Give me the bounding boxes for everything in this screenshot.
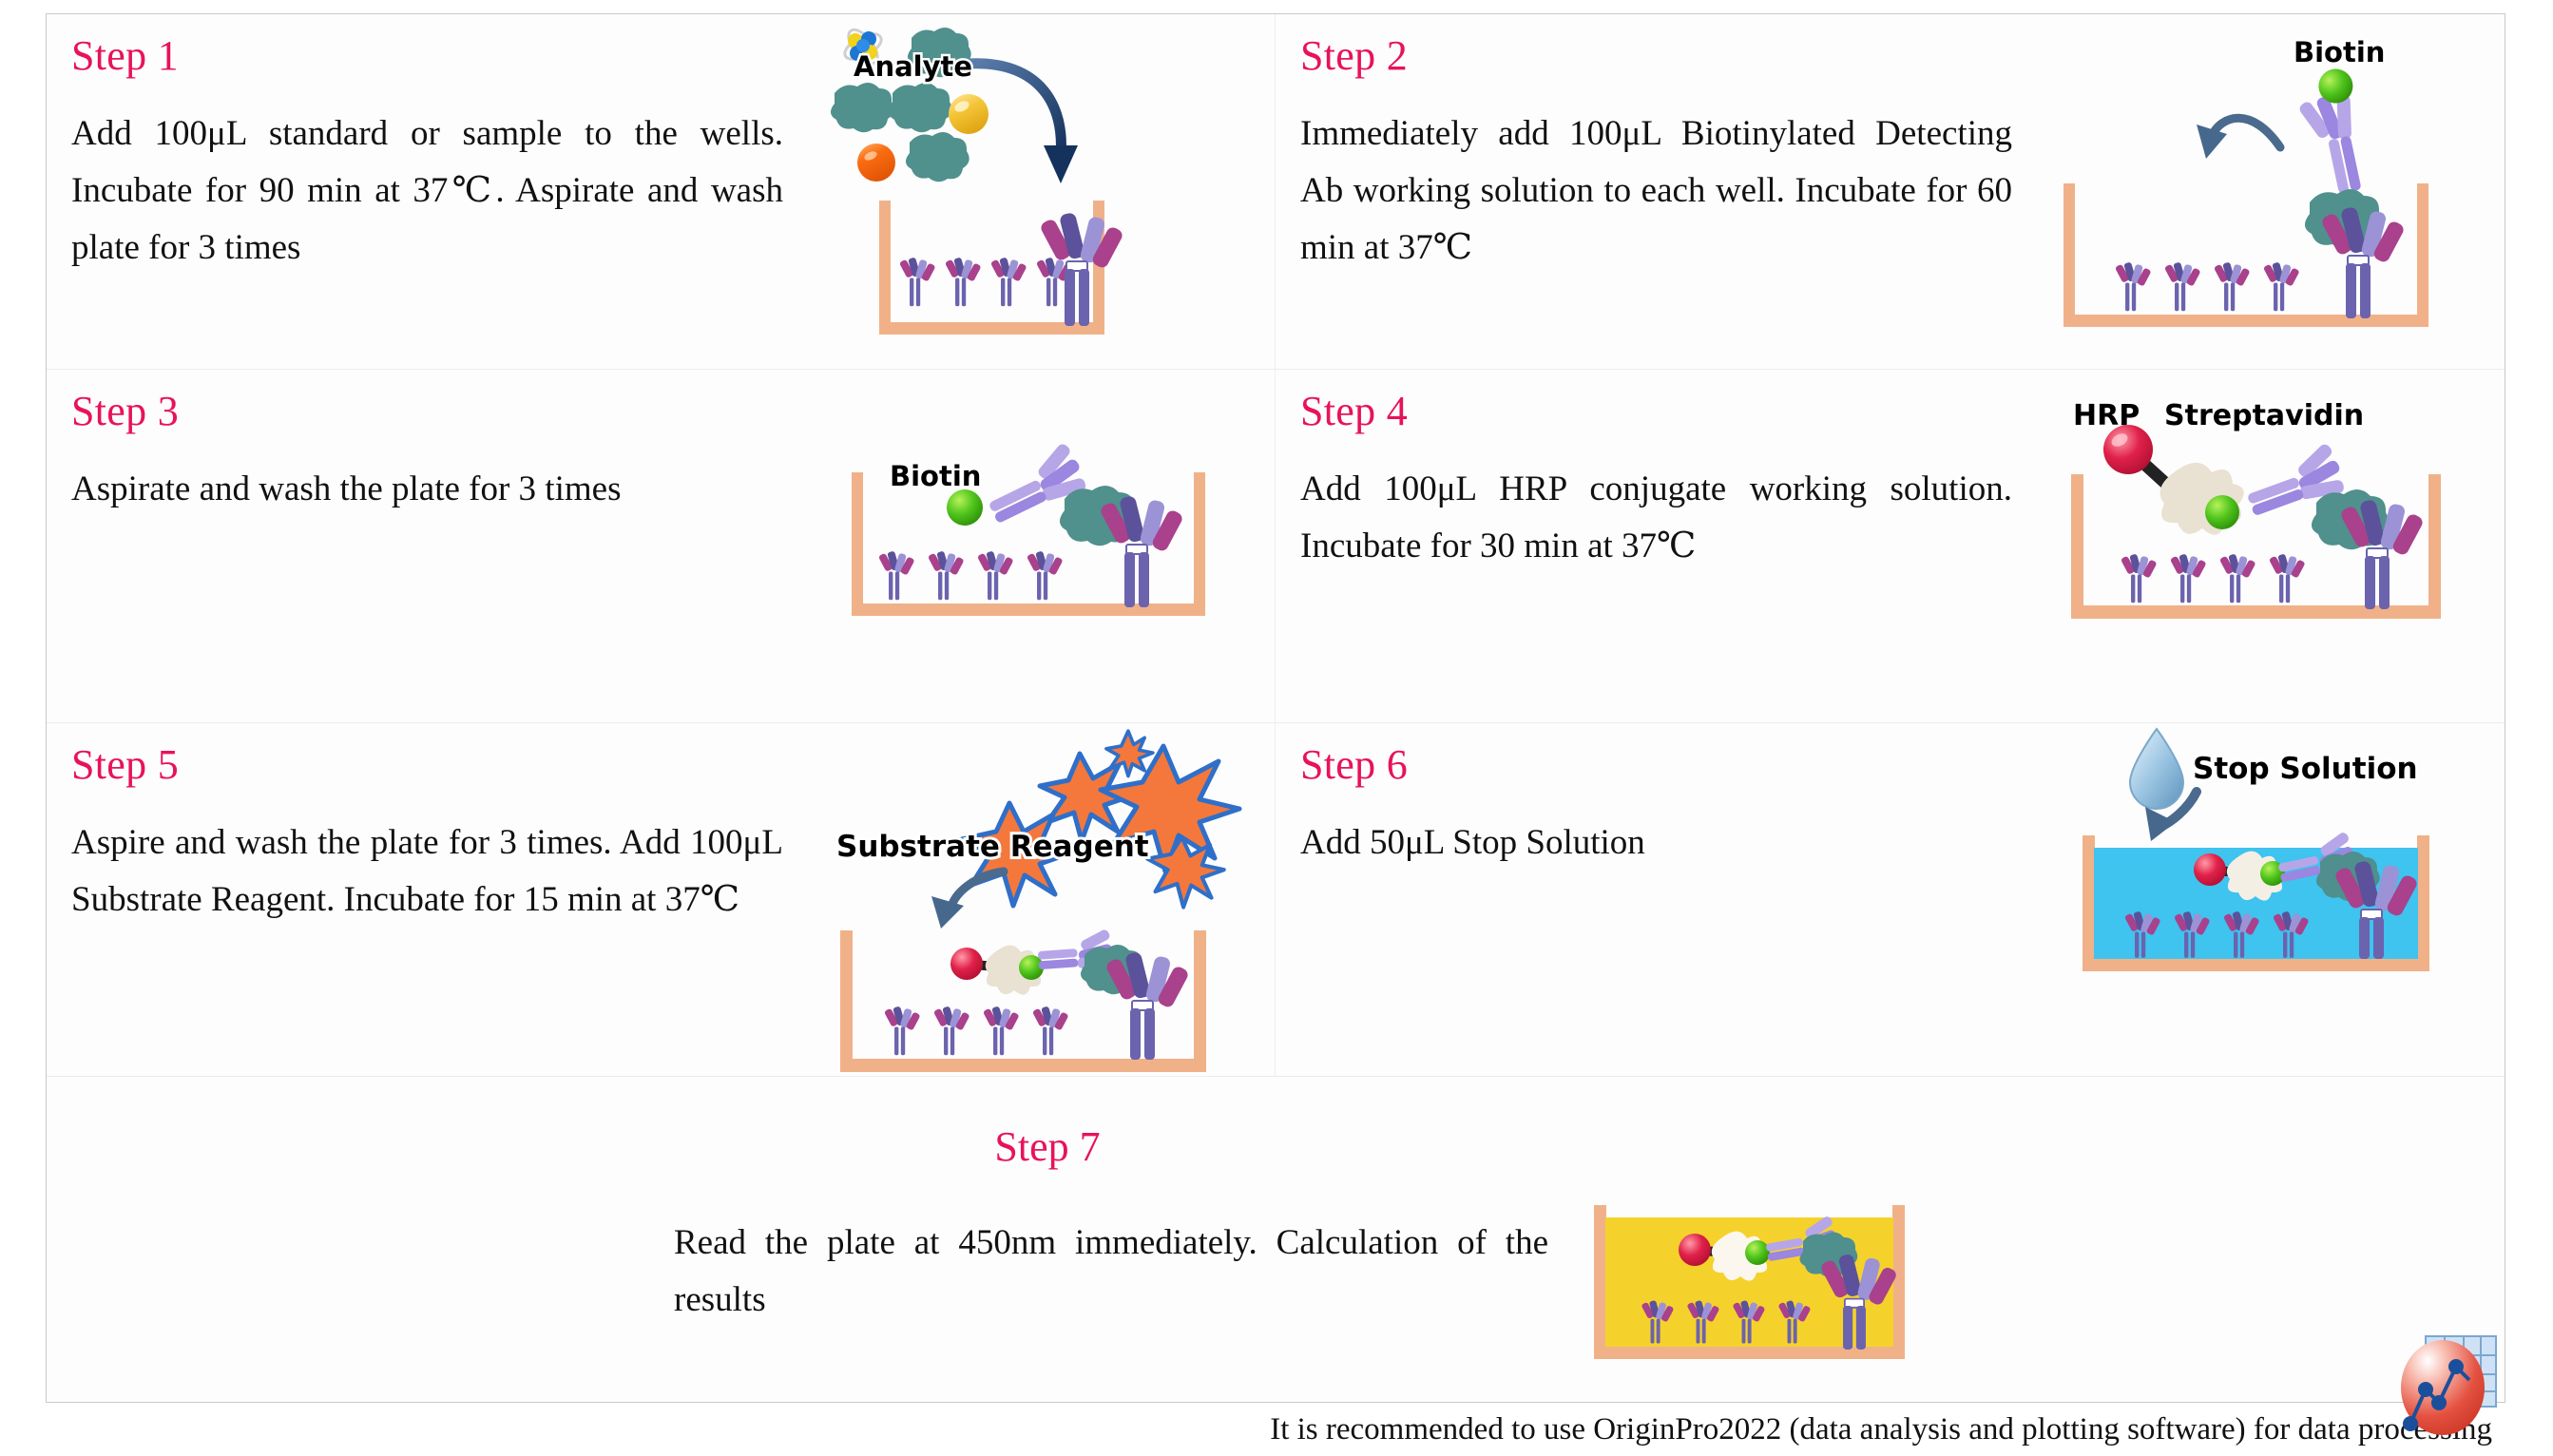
hrp-sphere [950, 948, 983, 980]
protocol-row-1: Step 1 Add 100μL standard or sample to t… [47, 14, 2505, 370]
well-filled-blue-with-stop-solution-droplet: Stop Solution [2044, 723, 2505, 1076]
svg-text:Streptavidin: Streptavidin [2164, 399, 2364, 432]
capture-antibody-row [2115, 261, 2300, 311]
biotinylated-detection-antibody [2292, 66, 2375, 199]
protocol-row-4: Step 7 Read the plate at 450nm immediate… [47, 1077, 2505, 1400]
step-1-title: Step 1 [71, 35, 783, 77]
step-6-title: Step 6 [1300, 744, 2012, 786]
step-2-art-cell: Biotin [2044, 14, 2505, 369]
substrate-reagent-label: Substrate Reagent [836, 830, 1149, 864]
step-5-art-cell: Substrate Reagent [816, 723, 1276, 1076]
step-7-title: Step 7 [47, 1077, 2505, 1171]
hrp-streptavidin-label: HRP Streptavidin [2073, 399, 2364, 432]
step-2-body: Immediately add 100μL Biotinylated Detec… [1300, 105, 2012, 277]
biotin-label: Biotin [2294, 36, 2385, 68]
biotin-label: Biotin [890, 460, 981, 492]
biotin-sphere [2205, 495, 2239, 529]
analyte-orange-sphere [857, 144, 895, 182]
substrate-sparkle-icons [962, 731, 1239, 907]
well-with-hrp-streptavidin-conjugate: HRP Streptavidin [2044, 370, 2505, 722]
capture-antibody-row [884, 1006, 1069, 1055]
well-with-biotinylated-detection-antibody: Biotin [2044, 14, 2505, 369]
step-5-text-cell: Step 5 Aspire and wash the plate for 3 t… [47, 723, 816, 1076]
step-6-text-cell: Step 6 Add 50μL Stop Solution [1276, 723, 2044, 1076]
step-5-body: Aspire and wash the plate for 3 times. A… [71, 814, 783, 929]
step-6-body: Add 50μL Stop Solution [1300, 814, 2012, 872]
step-4-text-cell: Step 4 Add 100μL HRP conjugate working s… [1276, 370, 2044, 722]
step-7-content: Read the plate at 450nm immediately. Cal… [47, 1171, 2505, 1378]
step-5-title: Step 5 [71, 744, 783, 786]
water-droplet-icon [2130, 729, 2183, 809]
well-filled-yellow-read-at-450nm [1586, 1188, 1948, 1378]
curved-arrow-icon [931, 872, 1004, 929]
footer-bar: It is recommended to use OriginPro2022 (… [46, 1403, 2505, 1456]
hrp-sphere [1679, 1234, 1711, 1266]
well-with-bound-biotin-antibody-sandwich: Biotin [816, 370, 1275, 722]
step-3-text-cell: Step 3 Aspirate and wash the plate for 3… [47, 370, 816, 722]
hrp-sphere [2194, 853, 2226, 886]
protocol-grid: Step 1 Add 100μL standard or sample to t… [46, 13, 2505, 1403]
well-with-substrate-reagent-sparkles: Substrate Reagent [816, 723, 1275, 1076]
step-7-body: Read the plate at 450nm immediately. Cal… [674, 1215, 1548, 1329]
step-1-art-cell: Analyte [816, 14, 1276, 369]
capture-antibody-row [878, 550, 1064, 600]
footer-note: It is recommended to use OriginPro2022 (… [1270, 1412, 2505, 1447]
step-7-art-cell [1586, 1188, 1948, 1378]
analyte-yellow-sphere [949, 94, 989, 134]
step-2-title: Step 2 [1300, 35, 2012, 77]
biotin-sphere [947, 489, 983, 526]
primary-capture-antibody [1099, 495, 1184, 607]
well-with-capture-antibodies-and-analyte: Analyte [816, 14, 1275, 369]
step-3-title: Step 3 [71, 391, 783, 432]
step-1-text-cell: Step 1 Add 100μL standard or sample to t… [47, 14, 816, 369]
step-3-body: Aspirate and wash the plate for 3 times [71, 461, 783, 518]
hrp-sphere [2103, 425, 2153, 474]
step-3-art-cell: Biotin [816, 370, 1276, 722]
stop-solution-label: Stop Solution [2193, 752, 2418, 786]
protocol-row-3: Step 5 Aspire and wash the plate for 3 t… [47, 723, 2505, 1077]
primary-capture-antibody [1104, 951, 1190, 1060]
curved-arrow-icon [2197, 118, 2280, 159]
step-4-art-cell: HRP Streptavidin [2044, 370, 2505, 722]
step-4-title: Step 4 [1300, 391, 2012, 432]
capture-antibody-row [2121, 553, 2306, 603]
capture-antibody-row [899, 257, 1073, 306]
step-6-art-cell: Stop Solution [2044, 723, 2505, 1076]
protocol-row-2: Step 3 Aspirate and wash the plate for 3… [47, 370, 2505, 723]
elisa-protocol-page: Step 1 Add 100μL standard or sample to t… [0, 0, 2553, 1456]
biotin-sphere [1745, 1240, 1770, 1265]
step-1-body: Add 100μL standard or sample to the well… [71, 105, 783, 277]
analyte-label: Analyte [854, 50, 972, 83]
originpro-logo [2397, 1332, 2500, 1443]
step-2-text-cell: Step 2 Immediately add 100μL Biotinylate… [1276, 14, 2044, 369]
step-4-body: Add 100μL HRP conjugate working solution… [1300, 461, 2012, 575]
